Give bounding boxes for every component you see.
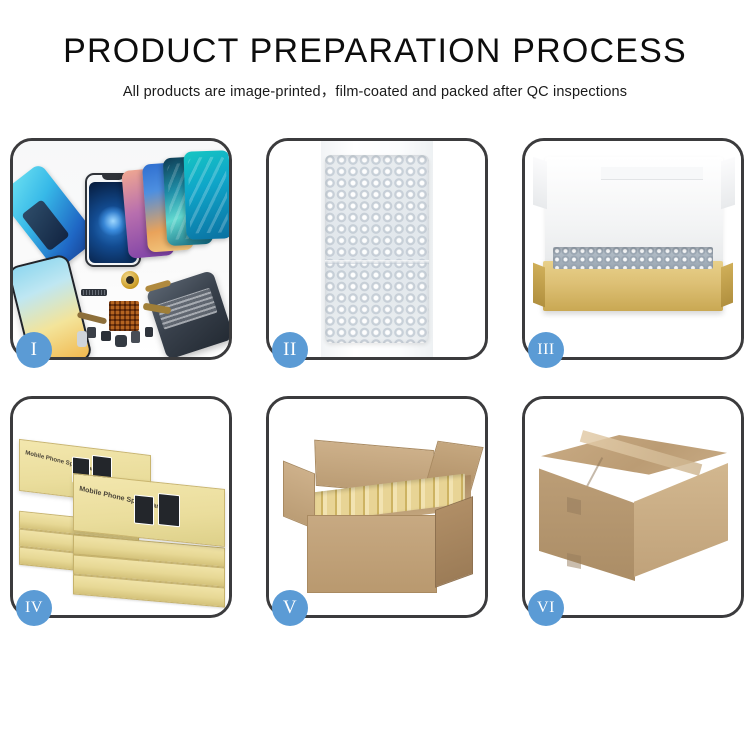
tray-right-flap-icon: [721, 263, 733, 308]
process-steps-grid: I II III: [0, 132, 750, 646]
step-panel-2: [266, 138, 488, 360]
process-row-bottom: Mobile Phone Spare Parts Mobile Phone Sp…: [0, 388, 750, 646]
step-panel-6: [522, 396, 744, 618]
coil-part-icon: [121, 271, 139, 289]
step-panel-4: Mobile Phone Spare Parts Mobile Phone Sp…: [10, 396, 232, 618]
flex-cable-b-icon: [145, 280, 172, 293]
process-row-top: I II III: [0, 132, 750, 388]
notch-icon: [102, 175, 124, 180]
camera-module-icon: [77, 331, 87, 347]
step-badge-4: IV: [16, 590, 52, 626]
flex-cable-c-icon: [143, 303, 172, 315]
carton-right-face-icon: [634, 463, 728, 577]
tray-left-flap-icon: [533, 263, 545, 308]
box-phone-artwork-icon: [158, 493, 180, 527]
step-badge-3: III: [528, 332, 564, 368]
small-part-4-icon: [131, 331, 140, 343]
bubble-wrap-icon: [325, 155, 429, 343]
sealed-carton-photo: [525, 399, 741, 615]
page-header: PRODUCT PREPARATION PROCESS All products…: [0, 0, 750, 101]
lid-tab-icon: [601, 167, 703, 180]
carton-front-face-icon: [307, 515, 437, 593]
connector-strip-icon: [81, 289, 107, 296]
box-stack-group: Mobile Phone Spare Parts Mobile Phone Sp…: [17, 421, 231, 611]
box-tray-icon: [543, 261, 723, 311]
small-part-3-icon: [115, 335, 127, 347]
step-badge-1: I: [16, 332, 52, 368]
sealed-carton-group: [539, 435, 731, 603]
stacked-boxes-photo: Mobile Phone Spare Parts Mobile Phone Sp…: [13, 399, 229, 615]
carton-side-face-icon: [435, 496, 473, 588]
step-badge-2: II: [272, 332, 308, 368]
bubble-wrapped-contents-icon: [553, 247, 713, 269]
step-panel-3: [522, 138, 744, 360]
phone-parts-photo: [13, 141, 229, 357]
inner-box-photo: [525, 141, 741, 357]
phone-cyan-icon: [183, 150, 232, 240]
small-part-1-icon: [87, 327, 96, 338]
flex-cable-a-icon: [77, 311, 108, 324]
bubble-wrap-photo: [269, 141, 485, 357]
box-phone-artwork-icon: [134, 494, 154, 525]
small-part-2-icon: [101, 331, 111, 341]
step-panel-5: [266, 396, 488, 618]
page-title: PRODUCT PREPARATION PROCESS: [0, 0, 750, 70]
copper-mesh-icon: [109, 301, 139, 331]
step-badge-6: VI: [528, 590, 564, 626]
step-badge-5: V: [272, 590, 308, 626]
step-panel-1: [10, 138, 232, 360]
open-carton-photo: [269, 399, 485, 615]
small-part-5-icon: [145, 327, 153, 337]
open-carton-group: [285, 439, 471, 599]
spare-parts-group: [75, 269, 183, 357]
page-subtitle: All products are image-printed，film-coat…: [0, 70, 750, 101]
